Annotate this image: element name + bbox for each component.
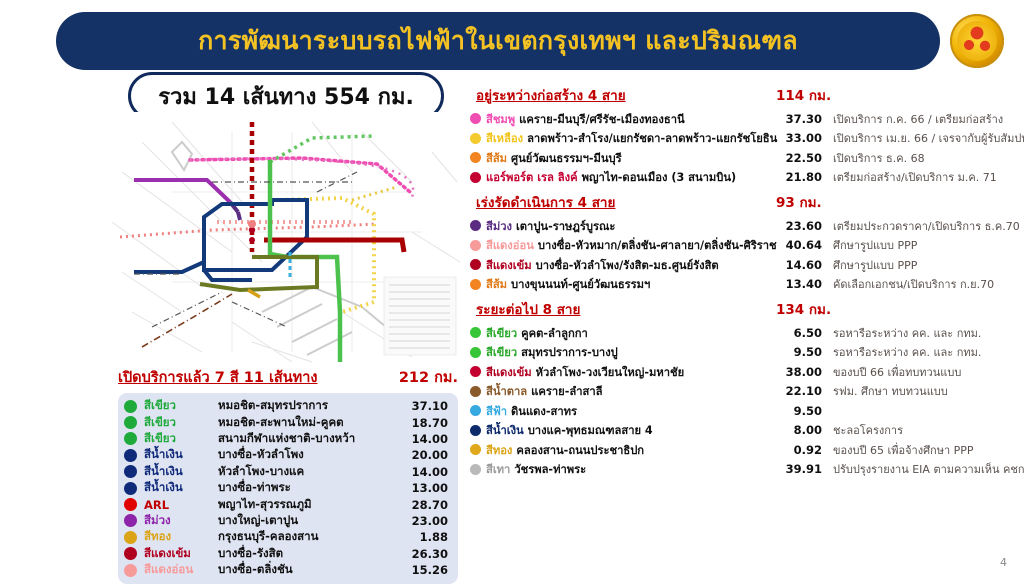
line-name: สีชมพู	[486, 110, 515, 128]
line-distance: 14.00	[404, 432, 448, 446]
line-distance: 37.10	[404, 399, 448, 413]
line-name: สีเขียว	[144, 414, 218, 432]
line-name: สีม่วง	[144, 512, 218, 530]
line-distance: 6.50	[776, 326, 822, 340]
line-route: บางซื่อ-หัวลำโพง/รังสิต-มธ.ศูนย์รังสิต	[536, 256, 719, 274]
line-distance: 13.00	[404, 481, 448, 495]
line-status-note: ศึกษารูปแบบ PPP	[833, 256, 917, 274]
line-color-dot	[124, 564, 137, 577]
line-color-dot	[470, 133, 481, 144]
line-name: สีเทา	[486, 460, 510, 478]
line-route: พญาไท-สุวรรณภูมิ	[218, 496, 404, 514]
line-color-dot	[470, 172, 481, 183]
line-status-note: เปิดบริการ เม.ย. 66 / เจรจากับผู้รับสัมป…	[833, 129, 1024, 147]
operational-line-row: สีน้ำเงินบางซื่อ-ท่าพระ13.00	[124, 480, 448, 496]
line-status-note: เปิดบริการ ธ.ค. 68	[833, 149, 925, 167]
line-status-note: รอหารือระหว่าง คค. และ กทม.	[833, 324, 981, 342]
line-distance: 22.10	[776, 384, 822, 398]
operational-line-row: สีน้ำเงินบางซื่อ-หัวลำโพง20.00	[124, 447, 448, 463]
line-route: แคราย-ลำสาลี	[531, 382, 602, 400]
status-section: ระยะต่อไป 8 สาย134 กม.สีเขียวคูคต-ลำลูกก…	[476, 298, 1024, 479]
line-distance: 20.00	[404, 448, 448, 462]
header-banner: การพัฒนาระบบรถไฟฟ้าในเขตกรุงเทพฯ และปริม…	[56, 12, 940, 70]
line-route: บางซื่อ-ตลิ่งชัน	[218, 561, 404, 579]
status-line-row: สีแดงอ่อนบางซื่อ-หัวหมาก/ตลิ่งชัน-ศาลายา…	[476, 236, 1024, 256]
line-color-dot	[124, 465, 137, 478]
operational-line-row: สีน้ำเงินหัวลำโพง-บางแค14.00	[124, 464, 448, 480]
page-number: 4	[1000, 556, 1007, 569]
line-distance: 23.60	[776, 219, 822, 233]
operational-line-row: สีเขียวสนามกีฬาแห่งชาติ-บางหว้า14.00	[124, 431, 448, 447]
line-status-note: รอหารือระหว่าง คค. และ กทม.	[833, 343, 981, 361]
line-route: กรุงธนบุรี-คลองสาน	[218, 528, 404, 546]
line-distance: 0.92	[776, 443, 822, 457]
line-route: บางซื่อ-หัวหมาก/ตลิ่งชัน-ศาลายา/ตลิ่งชัน…	[538, 236, 777, 254]
line-name: สีเหลือง	[486, 129, 523, 147]
line-color-dot	[124, 416, 137, 429]
line-route: บางขุนนนท์-ศูนย์วัฒนธรรมฯ	[511, 275, 650, 293]
line-color-dot	[470, 347, 481, 358]
status-line-row: สีเขียวคูคต-ลำลูกกา6.50รอหารือระหว่าง คค…	[476, 323, 1024, 343]
line-name: สีน้ำเงิน	[144, 479, 218, 497]
line-color-dot	[470, 386, 481, 397]
line-distance: 18.70	[404, 416, 448, 430]
line-distance: 8.00	[776, 423, 822, 437]
line-name: สีเขียว	[486, 343, 517, 361]
status-line-row: สีฟ้าดินแดง-สาทร9.50	[476, 401, 1024, 421]
status-line-row: สีแดงเข้มหัวลำโพง-วงเวียนใหญ่-มหาชัย38.0…	[476, 362, 1024, 382]
line-distance: 14.00	[404, 465, 448, 479]
status-line-row: สีเขียวสมุทรปราการ-บางปู9.50รอหารือระหว่…	[476, 343, 1024, 363]
operational-line-row: ARLพญาไท-สุวรรณภูมิ28.70	[124, 496, 448, 512]
status-line-row: สีแดงเข้มบางซื่อ-หัวลำโพง/รังสิต-มธ.ศูนย…	[476, 255, 1024, 275]
line-name: สีส้ม	[486, 275, 507, 293]
operational-section-title: เปิดบริการแล้ว 7 สี 11 เส้นทาง	[118, 366, 317, 389]
line-route: บางซื่อ-หัวลำโพง	[218, 446, 404, 464]
status-section-header: เร่งรัดดำเนินการ 4 สาย93 กม.	[476, 191, 1024, 213]
line-color-dot	[470, 405, 481, 416]
line-distance: 39.91	[776, 462, 822, 476]
operational-line-row: สีเขียวหมอชิต-สมุทรปราการ37.10	[124, 398, 448, 414]
line-route: หมอชิต-สมุทรปราการ	[218, 397, 404, 415]
line-name: สีม่วง	[486, 217, 512, 235]
line-name: สีน้ำเงิน	[144, 463, 218, 481]
line-color-dot	[470, 444, 481, 455]
line-route: คูคต-ลำลูกกา	[521, 324, 588, 342]
line-status-note: ศึกษารูปแบบ PPP	[833, 236, 917, 254]
line-route: หมอชิต-สะพานใหม่-คูคต	[218, 414, 404, 432]
bangkok-transit-map	[112, 112, 462, 364]
status-line-row: สีน้ำเงินบางแค-พุทธมณฑลสาย 48.00ชะลอโครง…	[476, 421, 1024, 441]
line-name: สีแดงเข้ม	[486, 256, 532, 274]
status-section-title: ระยะต่อไป 8 สาย	[476, 298, 580, 320]
line-distance: 15.26	[404, 563, 448, 577]
line-name: สีแดงอ่อน	[486, 236, 534, 254]
line-color-dot	[470, 366, 481, 377]
status-section: อยู่ระหว่างก่อสร้าง 4 สาย114 กม.สีชมพูแค…	[476, 84, 1024, 187]
line-distance: 26.30	[404, 547, 448, 561]
line-color-dot	[470, 425, 481, 436]
line-route: บางใหญ่-เตาปูน	[218, 512, 404, 530]
status-section: เร่งรัดดำเนินการ 4 สาย93 กม.สีม่วงเตาปูน…	[476, 191, 1024, 294]
line-name: สีเขียว	[144, 430, 218, 448]
project-status-column: อยู่ระหว่างก่อสร้าง 4 สาย114 กม.สีชมพูแค…	[476, 84, 1024, 483]
line-route: คลองสาน-ถนนประชาธิปก	[516, 441, 644, 459]
line-color-dot	[124, 482, 137, 495]
line-name: สีเขียว	[144, 397, 218, 415]
status-section-header: ระยะต่อไป 8 สาย134 กม.	[476, 298, 1024, 320]
status-section-title: เร่งรัดดำเนินการ 4 สาย	[476, 191, 615, 213]
line-route: เตาปูน-ราษฎร์บูรณะ	[516, 217, 615, 235]
line-name: สีทอง	[144, 528, 218, 546]
garuda-seal-inner	[957, 21, 997, 61]
line-status-note: คัดเลือกเอกชน/เปิดบริการ ก.ย.70	[833, 275, 994, 293]
line-route: แคราย-มีนบุรี/ศรีรัช-เมืองทองธานี	[519, 110, 684, 128]
line-distance: 37.30	[776, 112, 822, 126]
status-line-row: สีม่วงเตาปูน-ราษฎร์บูรณะ23.60เตรียมประกว…	[476, 216, 1024, 236]
line-status-note: ของบปี 65 เพื่อจ้างศึกษา PPP	[833, 441, 974, 459]
line-distance: 33.00	[776, 131, 822, 145]
line-route: บางซื่อ-ท่าพระ	[218, 479, 404, 497]
status-line-row: สีน้ำตาลแคราย-ลำสาลี22.10รฟม. ศึกษา ทบทว…	[476, 382, 1024, 402]
status-line-row: สีชมพูแคราย-มีนบุรี/ศรีรัช-เมืองทองธานี3…	[476, 109, 1024, 129]
page-title: การพัฒนาระบบรถไฟฟ้าในเขตกรุงเทพฯ และปริม…	[198, 21, 798, 61]
line-route: สนามกีฬาแห่งชาติ-บางหว้า	[218, 430, 404, 448]
line-color-dot	[470, 220, 481, 231]
line-color-dot	[470, 327, 481, 338]
line-name: แอร์พอร์ต เรล ลิงค์	[486, 168, 578, 186]
line-distance: 23.00	[404, 514, 448, 528]
line-name: สีทอง	[486, 441, 512, 459]
line-route: ดินแดง-สาทร	[511, 402, 577, 420]
line-color-dot	[470, 279, 481, 290]
line-status-note: เตรียมประกวดราคา/เปิดบริการ ธ.ค.70	[833, 217, 1020, 235]
status-section-km: 134 กม.	[776, 298, 831, 320]
line-color-dot	[124, 498, 137, 511]
line-status-note: ปรับปรุงรายงาน EIA ตามความเห็น คชก.	[833, 460, 1024, 478]
line-distance: 14.60	[776, 258, 822, 272]
status-line-row: สีเหลืองลาดพร้าว-สำโรง/แยกรัชดา-ลาดพร้าว…	[476, 129, 1024, 149]
line-color-dot	[124, 514, 137, 527]
line-status-note: ชะลอโครงการ	[833, 421, 903, 439]
line-route: หัวลำโพง-วงเวียนใหญ่-มหาชัย	[536, 363, 685, 381]
total-summary-label: รวม 14 เส้นทาง 554 กม.	[158, 79, 414, 114]
line-color-dot	[124, 432, 137, 445]
line-status-note: เตรียมก่อสร้าง/เปิดบริการ ม.ค. 71	[833, 168, 997, 186]
line-route: บางซื่อ-รังสิต	[218, 545, 404, 563]
line-distance: 28.70	[404, 498, 448, 512]
line-name: สีส้ม	[486, 149, 507, 167]
line-color-dot	[470, 152, 481, 163]
line-status-note: เปิดบริการ ก.ค. 66 / เตรียมก่อสร้าง	[833, 110, 1003, 128]
line-distance: 38.00	[776, 365, 822, 379]
line-distance: 13.40	[776, 277, 822, 291]
line-status-note: ของบปี 66 เพื่อทบทวนแบบ	[833, 363, 961, 381]
line-color-dot	[124, 531, 137, 544]
line-color-dot	[124, 449, 137, 462]
line-distance: 40.64	[776, 238, 822, 252]
line-name: สีน้ำเงิน	[486, 421, 524, 439]
operational-line-row: สีแดงเข้มบางซื่อ-รังสิต26.30	[124, 546, 448, 562]
line-route: สมุทรปราการ-บางปู	[521, 343, 618, 361]
line-name: ARL	[144, 498, 218, 512]
garuda-seal-icon	[950, 14, 1004, 68]
line-route: ลาดพร้าว-สำโรง/แยกรัชดา-ลาดพร้าว-แยกรัชโ…	[527, 129, 777, 147]
line-distance: 21.80	[776, 170, 822, 184]
status-section-km: 93 กม.	[776, 191, 822, 213]
line-name: สีเขียว	[486, 324, 517, 342]
operational-section-header: เปิดบริการแล้ว 7 สี 11 เส้นทาง 212 กม.	[118, 366, 458, 389]
operational-line-row: สีม่วงบางใหญ่-เตาปูน23.00	[124, 513, 448, 529]
line-route: บางแค-พุทธมณฑลสาย 4	[528, 421, 653, 439]
line-route: วัชรพล-ท่าพระ	[514, 460, 586, 478]
status-line-row: สีส้มศูนย์วัฒนธรรมฯ-มีนบุรี22.50เปิดบริก…	[476, 148, 1024, 168]
line-color-dot	[470, 113, 481, 124]
operational-lines-section: เปิดบริการแล้ว 7 สี 11 เส้นทาง 212 กม. ส…	[118, 366, 458, 584]
status-section-header: อยู่ระหว่างก่อสร้าง 4 สาย114 กม.	[476, 84, 1024, 106]
line-distance: 9.50	[776, 404, 822, 418]
line-color-dot	[470, 259, 481, 270]
status-section-title: อยู่ระหว่างก่อสร้าง 4 สาย	[476, 84, 626, 106]
status-line-row: แอร์พอร์ต เรล ลิงค์พญาไท-ดอนเมือง (3 สนา…	[476, 168, 1024, 188]
line-name: สีฟ้า	[486, 402, 507, 420]
line-status-note: รฟม. ศึกษา ทบทวนแบบ	[833, 382, 948, 400]
status-section-km: 114 กม.	[776, 84, 831, 106]
line-distance: 22.50	[776, 151, 822, 165]
line-route: หัวลำโพง-บางแค	[218, 463, 404, 481]
line-distance: 9.50	[776, 345, 822, 359]
line-name: สีแดงเข้ม	[144, 545, 218, 563]
line-route: ศูนย์วัฒนธรรมฯ-มีนบุรี	[511, 149, 622, 167]
status-line-row: สีเทาวัชรพล-ท่าพระ39.91ปรับปรุงรายงาน EI…	[476, 460, 1024, 480]
line-color-dot	[124, 547, 137, 560]
status-line-row: สีส้มบางขุนนนท์-ศูนย์วัฒนธรรมฯ13.40คัดเล…	[476, 275, 1024, 295]
line-name: สีแดงเข้ม	[486, 363, 532, 381]
operational-lines-panel: สีเขียวหมอชิต-สมุทรปราการ37.10สีเขียวหมอ…	[118, 393, 458, 584]
line-name: สีน้ำเงิน	[144, 446, 218, 464]
line-color-dot	[124, 400, 137, 413]
operational-line-row: สีเขียวหมอชิต-สะพานใหม่-คูคต18.70	[124, 414, 448, 430]
operational-section-km: 212 กม.	[399, 366, 458, 389]
status-line-row: สีทองคลองสาน-ถนนประชาธิปก0.92ของบปี 65 เ…	[476, 440, 1024, 460]
line-route: พญาไท-ดอนเมือง (3 สนามบิน)	[582, 168, 737, 186]
operational-line-row: สีทองกรุงธนบุรี-คลองสาน1.88	[124, 529, 448, 545]
operational-line-row: สีแดงอ่อนบางซื่อ-ตลิ่งชัน15.26	[124, 562, 448, 578]
line-distance: 1.88	[404, 530, 448, 544]
line-name: สีแดงอ่อน	[144, 561, 218, 579]
line-color-dot	[470, 240, 481, 251]
line-name: สีน้ำตาล	[486, 382, 527, 400]
line-color-dot	[470, 464, 481, 475]
